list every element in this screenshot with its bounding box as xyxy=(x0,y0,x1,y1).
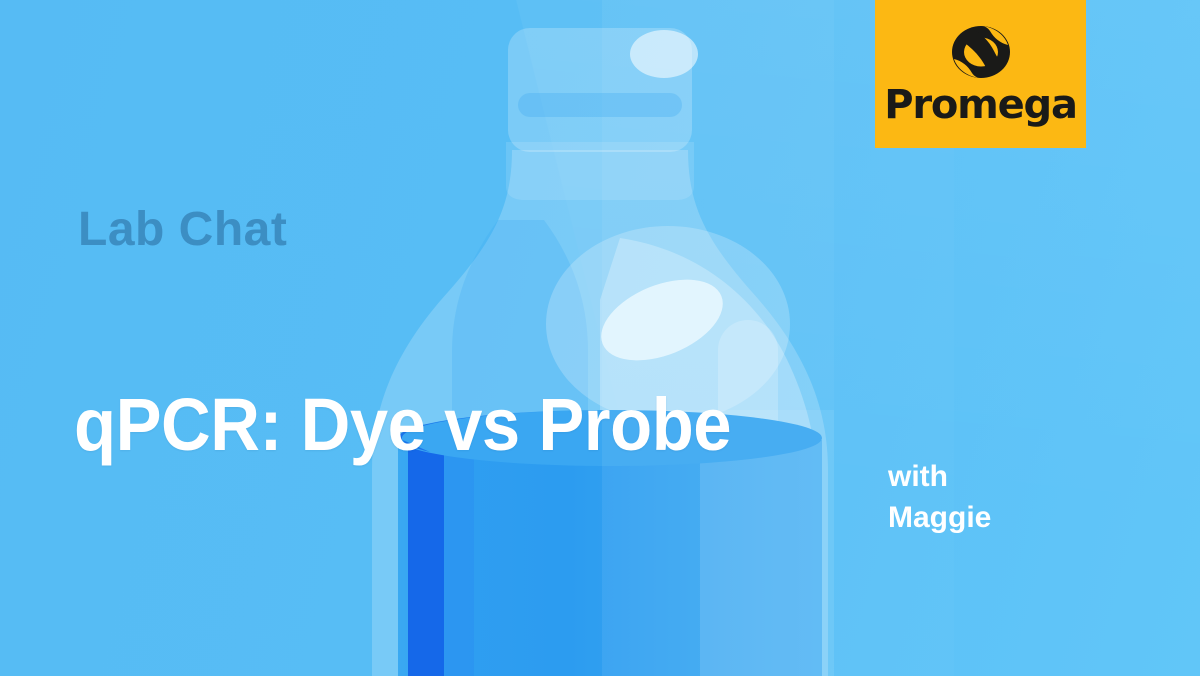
promega-wordmark: Promega xyxy=(884,85,1077,125)
byline: with Maggie xyxy=(888,456,1128,539)
slide-canvas: Lab Chat qPCR: Dye vs Probe with Maggie … xyxy=(0,0,1200,676)
promega-logo: Promega xyxy=(875,0,1086,148)
byline-with: with xyxy=(888,456,1128,497)
kicker-label: Lab Chat xyxy=(78,206,287,254)
promega-swirl-ring-icon xyxy=(950,23,1012,81)
page-title: qPCR: Dye vs Probe xyxy=(74,386,731,464)
byline-host-name: Maggie xyxy=(888,497,1128,538)
